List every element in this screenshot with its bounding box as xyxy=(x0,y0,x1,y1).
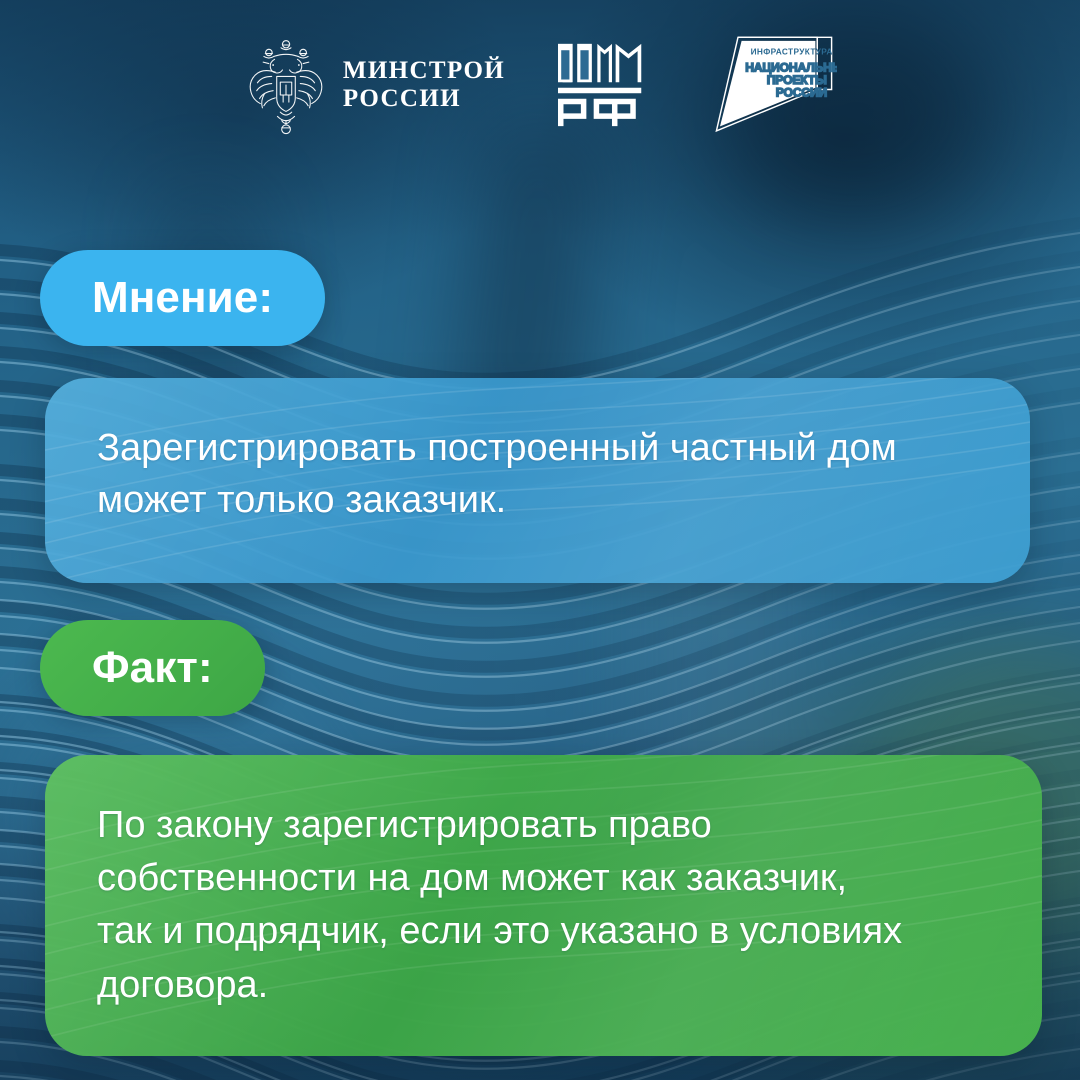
national-projects-flag-logo-icon: ИНФРАСТРУКТУРА НАЦИОНАЛЬНЫЕ ПРОЕКТЫ РОСС… xyxy=(711,30,837,140)
header-logo-bar: МИНСТРОЙ РОССИИ xyxy=(0,0,1080,170)
fact-card: По закону зарегистрировать право собстве… xyxy=(45,755,1042,1056)
opinion-badge-label: Мнение: xyxy=(92,273,273,323)
opinion-card: Зарегистрировать построенный частный дом… xyxy=(45,378,1030,583)
minstroy-line-2: РОССИИ xyxy=(343,85,505,114)
fact-badge-label: Факт: xyxy=(92,643,213,693)
minstroy-line-1: МИНСТРОЙ xyxy=(343,57,505,86)
fact-badge: Факт: xyxy=(40,620,265,716)
dom-rf-logo-icon xyxy=(555,42,647,128)
svg-text:РОССИИ: РОССИИ xyxy=(776,86,827,100)
double-headed-eagle-emblem-icon xyxy=(243,35,329,135)
opinion-badge: Мнение: xyxy=(40,250,325,346)
svg-text:ИНФРАСТРУКТУРА: ИНФРАСТРУКТУРА xyxy=(751,47,833,56)
minstroy-wordmark: МИНСТРОЙ РОССИИ xyxy=(343,57,505,114)
fact-text: По закону зарегистрировать право собстве… xyxy=(97,799,990,1012)
poster-root: МИНСТРОЙ РОССИИ xyxy=(0,0,1080,1080)
opinion-text: Зарегистрировать построенный частный дом… xyxy=(97,422,978,527)
logo-minstroy-rossii: МИНСТРОЙ РОССИИ xyxy=(243,35,505,135)
